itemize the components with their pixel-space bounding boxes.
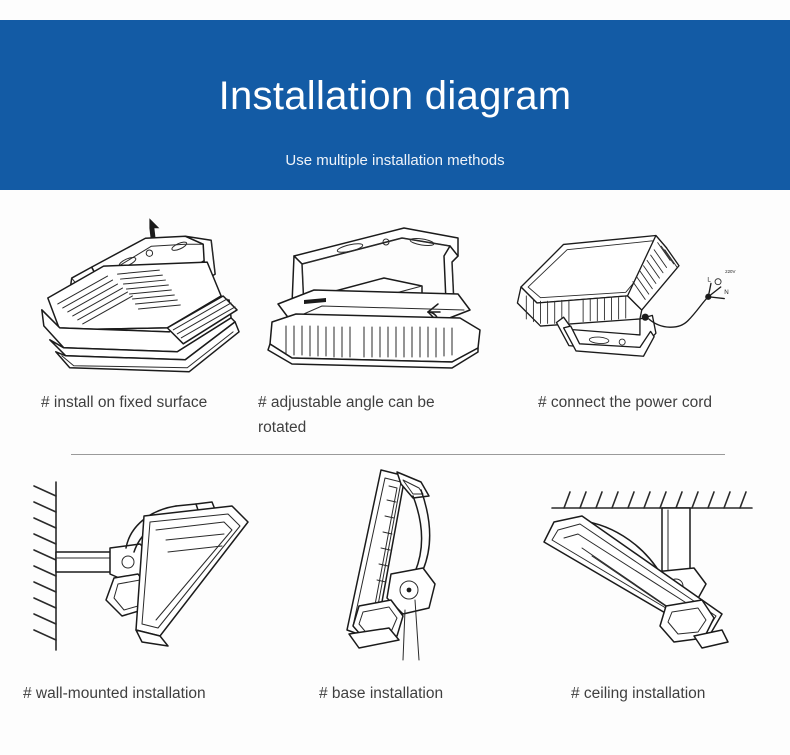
diagram-cell-adjustable-angle: # adjustable angle can be rotated <box>252 200 505 440</box>
caption-connect-power-cord: # connect the power cord <box>505 390 758 415</box>
wire-label-voltage: 220V <box>725 269 735 274</box>
installation-diagram-page: Installation diagram Use multiple instal… <box>0 0 790 755</box>
diagram-cell-ceiling-installation: # ceiling installation <box>526 460 789 706</box>
caption-base-installation: # base installation <box>263 675 526 706</box>
diagram-cell-install-on-fixed-surface: # install on fixed surface <box>0 200 252 440</box>
flood-light-power-cord-icon: L N 220V <box>505 200 758 390</box>
header-banner: Installation diagram Use multiple instal… <box>0 20 790 190</box>
diagram-row-top: # install on fixed surface <box>0 200 790 440</box>
base-installation-icon <box>263 460 526 675</box>
caption-wall-mounted-installation: # wall-mounted installation <box>0 675 263 706</box>
diagram-cell-base-installation: # base installation <box>263 460 526 706</box>
caption-ceiling-installation: # ceiling installation <box>526 675 789 706</box>
caption-install-on-fixed-surface: # install on fixed surface <box>0 390 252 415</box>
diagram-cell-connect-power-cord: L N 220V # connect the power cord <box>505 200 758 440</box>
wall-mounted-installation-icon <box>0 460 263 675</box>
diagram-cell-wall-mounted: # wall-mounted installation <box>0 460 263 706</box>
page-title: Installation diagram <box>0 72 790 120</box>
ceiling-installation-icon <box>526 460 789 675</box>
caption-adjustable-angle: # adjustable angle can be rotated <box>252 390 505 440</box>
section-divider <box>71 454 725 455</box>
flood-light-adjustable-bracket-icon <box>252 200 505 390</box>
wire-label-neutral: N <box>724 289 728 296</box>
page-subtitle: Use multiple installation methods <box>0 151 790 171</box>
flood-light-fixed-surface-icon <box>0 200 252 390</box>
diagram-row-bottom: # wall-mounted installation <box>0 460 790 706</box>
wire-label-live: L <box>707 277 711 284</box>
